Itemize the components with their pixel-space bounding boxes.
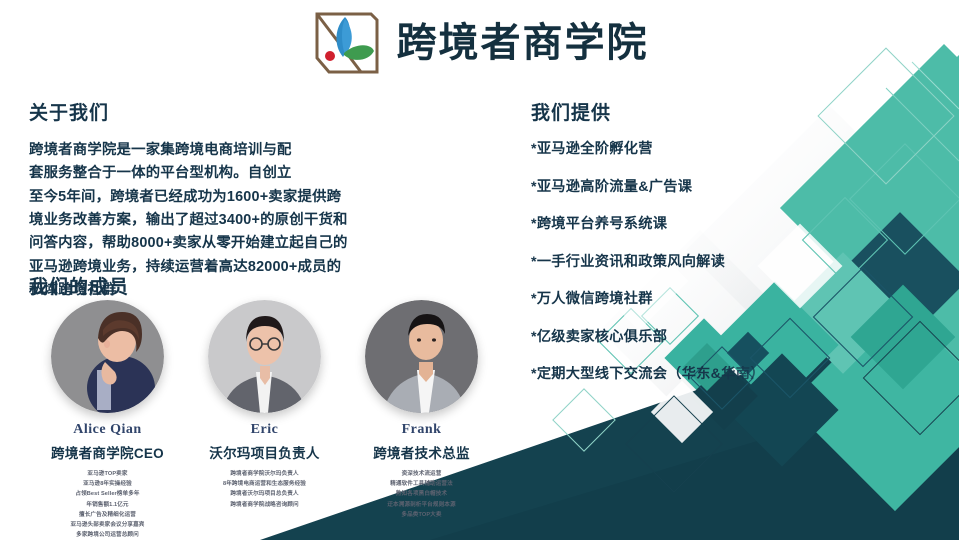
member-role: 跨境者技术总监 bbox=[354, 442, 489, 462]
members-list: Alice Qian 跨境者商学院CEO 亚马逊TOP卖家 亚马逊8年实操经验 … bbox=[40, 300, 520, 540]
offer-item: *一手行业资讯和政策风向解读 bbox=[531, 254, 831, 271]
avatar bbox=[51, 300, 164, 413]
member-card: Eric 沃尔玛项目负责人 跨境者商学院沃尔玛负责人 8年跨境电商运营和生态服务… bbox=[197, 300, 332, 540]
brand-title: 跨境者商学院 bbox=[397, 23, 649, 63]
member-name: Eric bbox=[197, 422, 332, 438]
offers-title: 我们提供 bbox=[531, 98, 831, 125]
page-header: 跨境者商学院 bbox=[0, 0, 959, 86]
offer-item: *万人微信跨境社群 bbox=[531, 291, 831, 308]
offer-item: *定期大型线下交流会（华东&华南） bbox=[531, 366, 831, 383]
avatar bbox=[208, 300, 321, 413]
butterfly-leaf-logo-icon bbox=[311, 9, 383, 77]
member-role: 沃尔玛项目负责人 bbox=[197, 442, 332, 462]
offer-item: *亚马逊高阶流量&广告课 bbox=[531, 179, 831, 196]
member-card: Frank 跨境者技术总监 资深技术流运营 精通软件工具辅助运营法 熟知各项黑白… bbox=[354, 300, 489, 540]
member-description: 资深技术流运营 精通软件工具辅助运营法 熟知各项黑白帽技术 迂本溯源剖析平台规则… bbox=[354, 469, 489, 520]
members-section-title: 我们的成员 bbox=[29, 272, 129, 299]
offer-item: *亿级卖家核心俱乐部 bbox=[531, 329, 831, 346]
slide-canvas: 跨境者商学院 关于我们 跨境者商学院是一家集跨境电商培训与配 套服务整合于一体的… bbox=[0, 0, 959, 540]
offer-item: *跨境平台养号系统课 bbox=[531, 216, 831, 233]
member-name: Alice Qian bbox=[40, 422, 175, 438]
member-description: 亚马逊TOP卖家 亚马逊8年实操经验 占领Best Seller榜单多年 年销售… bbox=[40, 469, 175, 540]
offer-item: *亚马逊全阶孵化营 bbox=[531, 141, 831, 158]
about-title: 关于我们 bbox=[29, 98, 359, 125]
avatar bbox=[365, 300, 478, 413]
offers-section: 我们提供 *亚马逊全阶孵化营 *亚马逊高阶流量&广告课 *跨境平台养号系统课 *… bbox=[531, 98, 831, 404]
member-role: 跨境者商学院CEO bbox=[40, 442, 175, 462]
member-description: 跨境者商学院沃尔玛负责人 8年跨境电商运营和生态服务经验 跨境者沃尔玛项目总负责… bbox=[197, 469, 332, 510]
member-name: Frank bbox=[354, 422, 489, 438]
member-card: Alice Qian 跨境者商学院CEO 亚马逊TOP卖家 亚马逊8年实操经验 … bbox=[40, 300, 175, 540]
